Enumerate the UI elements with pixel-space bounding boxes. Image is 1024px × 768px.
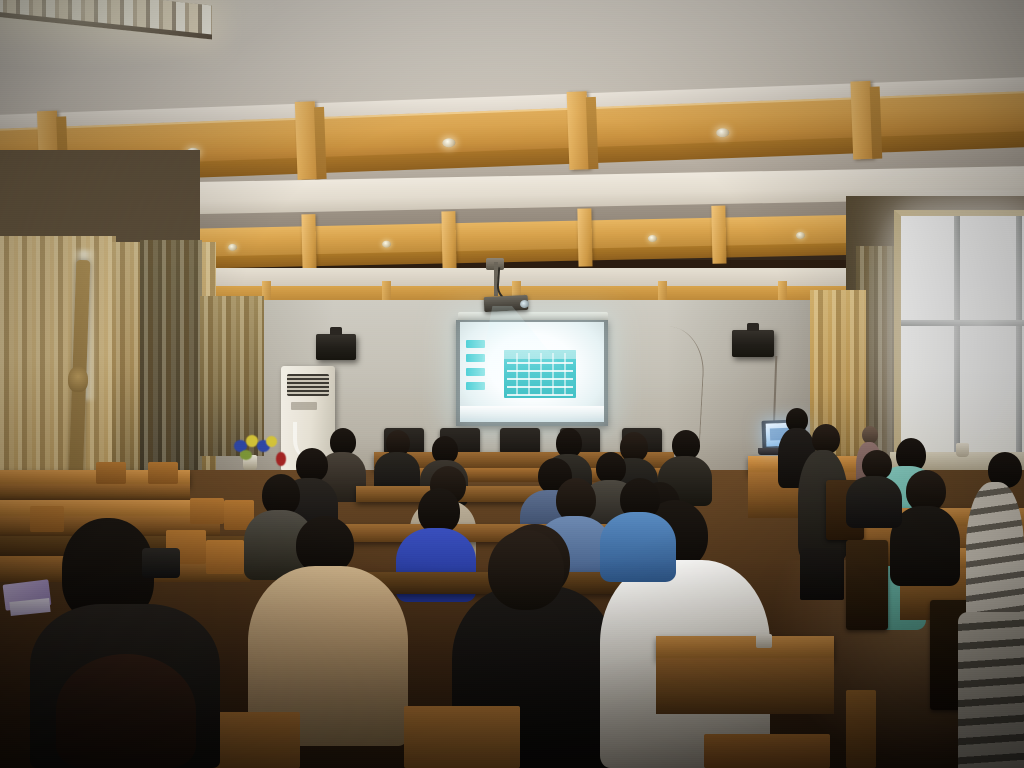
conference-room-photo	[0, 0, 1024, 768]
film-grain	[0, 0, 1024, 768]
